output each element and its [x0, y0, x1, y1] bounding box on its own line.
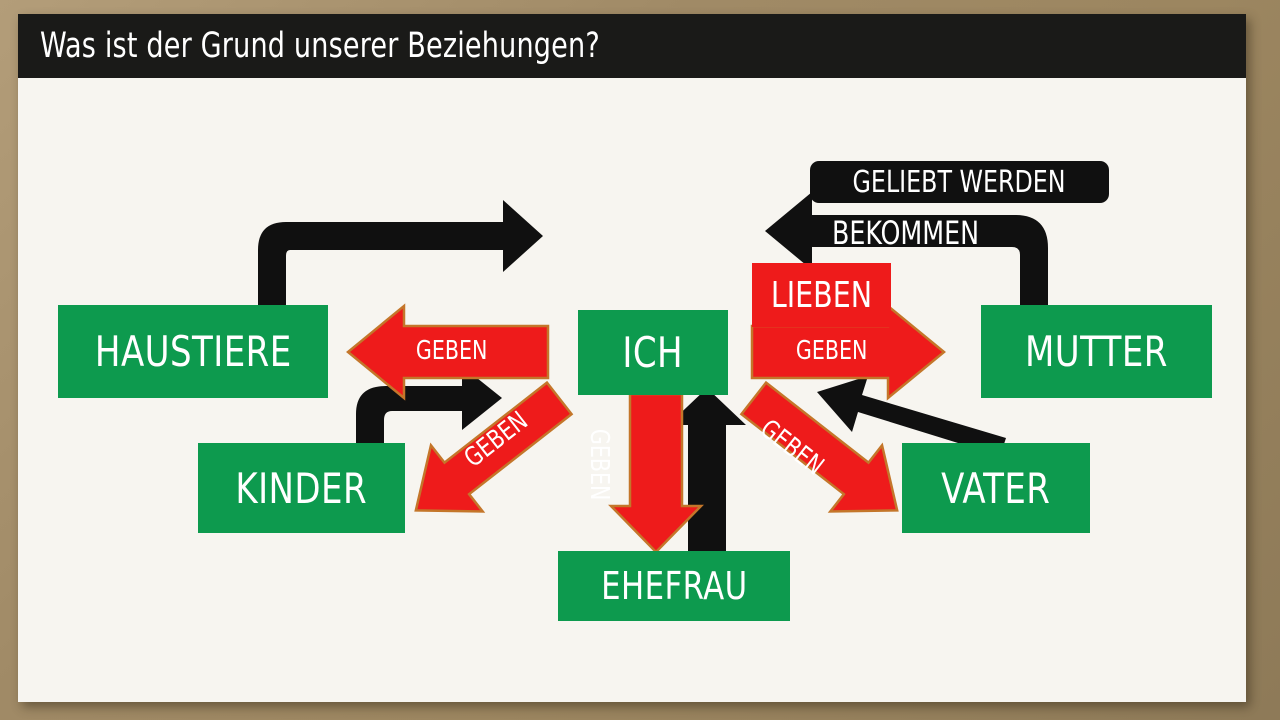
label-geliebt-werden: GELIEBT WERDEN	[810, 161, 1109, 203]
node-kinder[interactable]: KINDER	[198, 443, 405, 533]
node-ich[interactable]: ICH	[578, 310, 728, 395]
node-mutter[interactable]: MUTTER	[981, 305, 1212, 398]
node-vater[interactable]: VATER	[902, 443, 1090, 533]
node-ehefrau[interactable]: EHEFRAU	[558, 551, 790, 621]
label-lieben: LIEBEN	[752, 263, 891, 327]
slide-root: Was ist der Grund unserer Beziehungen?	[0, 0, 1280, 720]
arrow-ich-to-haustiere	[348, 306, 548, 398]
node-haustiere[interactable]: HAUSTIERE	[58, 305, 328, 398]
